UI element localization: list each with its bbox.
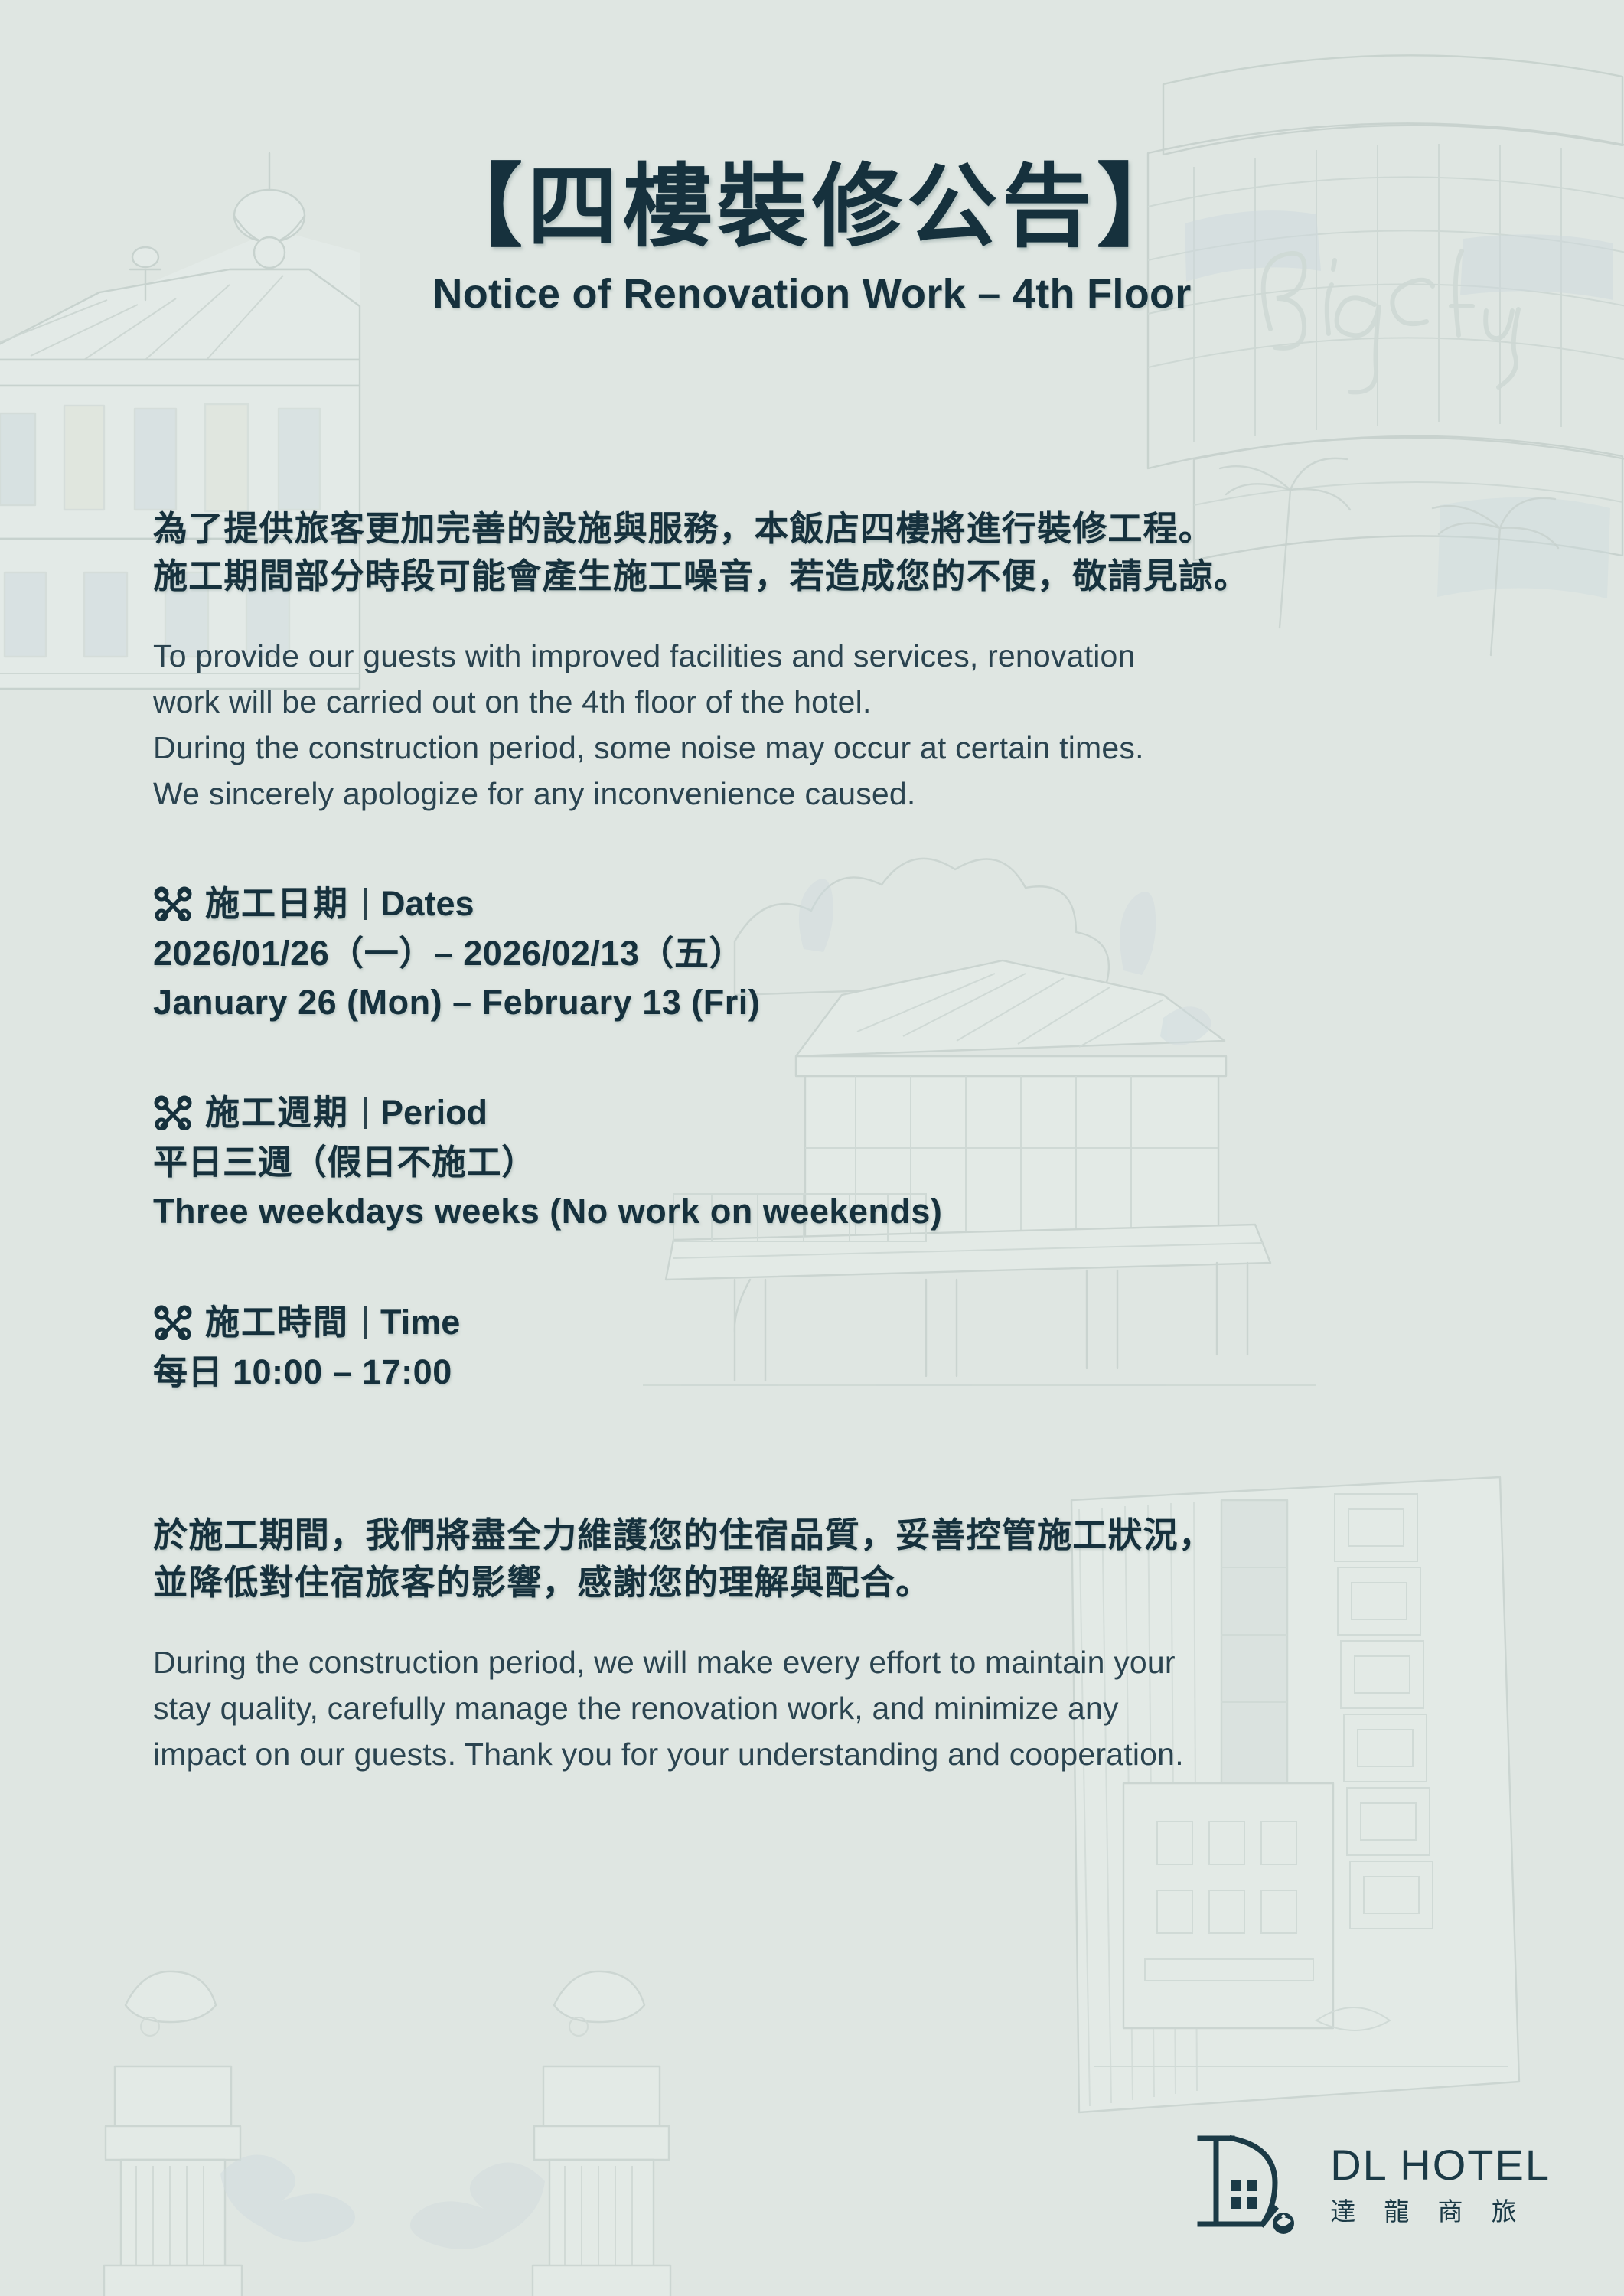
section-time-line-1: 每日 10:00 – 17:00 xyxy=(153,1348,1509,1397)
section-period-label-en: Period xyxy=(380,1092,488,1133)
crossed-tools-icon xyxy=(153,1095,193,1130)
page-title-chinese: 【四樓裝修公告】 xyxy=(0,159,1624,256)
section-period: 施工週期 Period 平日三週（假日不施工） Three weekdays w… xyxy=(153,1092,1509,1236)
intro-cn-line-2: 施工期間部分時段可能會產生施工噪音，若造成您的不便，敬請見諒。 xyxy=(153,553,1509,600)
section-period-heading: 施工週期 Period xyxy=(153,1092,1509,1133)
brand-name-chinese: 達 龍 商 旅 xyxy=(1330,2199,1551,2224)
intro-en-line-2: work will be carried out on the 4th floo… xyxy=(153,680,1509,726)
crossed-tools-icon xyxy=(153,886,193,921)
dl-building-monogram-icon xyxy=(1189,2126,1304,2241)
section-dates-heading: 施工日期 Dates xyxy=(153,883,1509,925)
closing-en-line-2: stay quality, carefully manage the renov… xyxy=(153,1686,1509,1732)
section-time-body: 每日 10:00 – 17:00 xyxy=(153,1348,1509,1397)
brand-name-english: DL HOTEL xyxy=(1330,2144,1551,2187)
intro-chinese-paragraph: 為了提供旅客更加完善的設施與服務，本飯店四樓將進行裝修工程。 施工期間部分時段可… xyxy=(153,505,1509,600)
renovation-notice-poster: .ln { fill:none; stroke:#b9c6c2; stroke-… xyxy=(0,0,1624,2296)
section-dates-label-en: Dates xyxy=(380,883,474,925)
section-dates-separator xyxy=(364,888,367,920)
intro-en-line-4: We sincerely apologize for any inconveni… xyxy=(153,771,1509,817)
brand-logo-text: DL HOTEL 達 龍 商 旅 xyxy=(1330,2144,1551,2224)
section-period-label-cn: 施工週期 xyxy=(205,1092,349,1133)
section-dates-line-2: January 26 (Mon) – February 13 (Fri) xyxy=(153,978,1509,1027)
section-time-separator xyxy=(364,1306,367,1339)
intro-cn-line-1: 為了提供旅客更加完善的設施與服務，本飯店四樓將進行裝修工程。 xyxy=(153,505,1509,553)
section-period-separator xyxy=(364,1097,367,1129)
closing-cn-line-2: 並降低對住宿旅客的影響，感謝您的理解與配合。 xyxy=(153,1559,1509,1606)
section-period-line-2: Three weekdays weeks (No work on weekend… xyxy=(153,1187,1509,1236)
section-dates-label-cn: 施工日期 xyxy=(205,883,349,925)
closing-en-line-1: During the construction period, we will … xyxy=(153,1640,1509,1686)
closing-chinese-paragraph: 於施工期間，我們將盡全力維護您的住宿品質，妥善控管施工狀況， 並降低對住宿旅客的… xyxy=(153,1512,1509,1606)
section-time: 施工時間 Time 每日 10:00 – 17:00 xyxy=(153,1302,1509,1397)
section-time-label-en: Time xyxy=(380,1302,460,1343)
crossed-tools-icon xyxy=(153,1305,193,1340)
section-dates-line-1: 2026/01/26（一）– 2026/02/13（五） xyxy=(153,929,1509,978)
closing-cn-line-1: 於施工期間，我們將盡全力維護您的住宿品質，妥善控管施工狀況， xyxy=(153,1512,1509,1559)
page-title-block: 【四樓裝修公告】 Notice of Renovation Work – 4th… xyxy=(0,159,1624,318)
notice-body: 為了提供旅客更加完善的設施與服務，本飯店四樓將進行裝修工程。 施工期間部分時段可… xyxy=(153,505,1509,1778)
section-dates-body: 2026/01/26（一）– 2026/02/13（五） January 26 … xyxy=(153,929,1509,1027)
intro-english-paragraph: To provide our guests with improved faci… xyxy=(153,634,1509,817)
closing-english-paragraph: During the construction period, we will … xyxy=(153,1640,1509,1778)
intro-en-line-1: To provide our guests with improved faci… xyxy=(153,634,1509,680)
section-dates: 施工日期 Dates 2026/01/26（一）– 2026/02/13（五） … xyxy=(153,883,1509,1027)
page-title-english: Notice of Renovation Work – 4th Floor xyxy=(0,270,1624,318)
brand-logo: DL HOTEL 達 龍 商 旅 xyxy=(1189,2126,1551,2241)
intro-en-line-3: During the construction period, some noi… xyxy=(153,726,1509,771)
section-period-body: 平日三週（假日不施工） Three weekdays weeks (No wor… xyxy=(153,1138,1509,1236)
section-time-heading: 施工時間 Time xyxy=(153,1302,1509,1343)
closing-en-line-3: impact on our guests. Thank you for your… xyxy=(153,1732,1509,1778)
section-time-label-cn: 施工時間 xyxy=(205,1302,349,1343)
section-period-line-1: 平日三週（假日不施工） xyxy=(153,1138,1509,1187)
